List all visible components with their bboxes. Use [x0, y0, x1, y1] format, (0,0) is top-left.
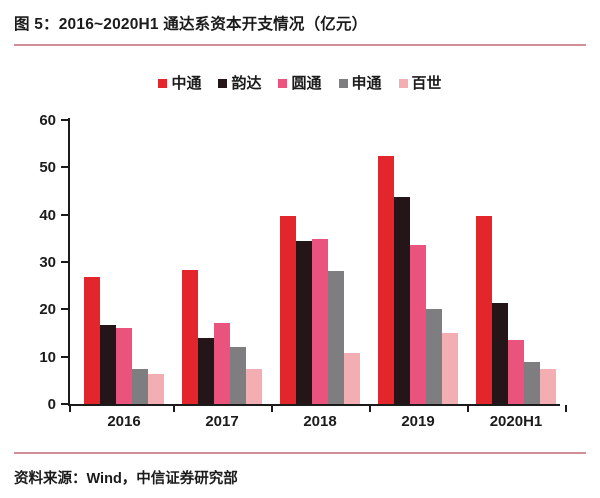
y-axis-label-30: 30 [16, 255, 56, 270]
x-axis-label-2017: 2017 [182, 414, 262, 429]
bar-2020H1-申通[interactable] [524, 362, 540, 404]
bar-chart-plot: 010203040506020162017201820192020H1 [0, 0, 600, 440]
bar-2016-中通[interactable] [84, 277, 100, 404]
y-axis-label-50: 50 [16, 160, 56, 175]
x-axis-tick-2019 [467, 405, 469, 412]
y-axis-tick-50 [61, 166, 69, 168]
bar-2016-韵达[interactable] [100, 325, 116, 404]
bar-2019-百世[interactable] [442, 333, 458, 404]
bar-2019-韵达[interactable] [394, 197, 410, 404]
y-axis-tick-10 [61, 356, 69, 358]
bar-2016-圆通[interactable] [116, 328, 132, 404]
y-axis-label-0: 0 [16, 397, 56, 412]
bar-2017-百世[interactable] [246, 369, 262, 404]
bar-group-2018 [280, 120, 360, 404]
bar-2019-申通[interactable] [426, 309, 442, 404]
y-axis-label-10: 10 [16, 350, 56, 365]
y-axis-tick-0 [61, 403, 69, 405]
y-axis-label-60: 60 [16, 113, 56, 128]
bar-group-2017 [182, 120, 262, 404]
bar-group-2020H1 [476, 120, 556, 404]
x-axis-tick-2017 [271, 405, 273, 412]
y-axis-tick-60 [61, 119, 69, 121]
x-axis-label-2018: 2018 [280, 414, 360, 429]
bar-2019-中通[interactable] [378, 156, 394, 404]
footer-divider [14, 452, 586, 454]
bar-2020H1-中通[interactable] [476, 216, 492, 404]
bar-2018-韵达[interactable] [296, 241, 312, 404]
bar-2018-申通[interactable] [328, 271, 344, 404]
bar-2017-中通[interactable] [182, 270, 198, 404]
x-axis-tick-2018 [369, 405, 371, 412]
bar-2020H1-圆通[interactable] [508, 340, 524, 404]
y-axis-label-40: 40 [16, 208, 56, 223]
bar-2018-中通[interactable] [280, 216, 296, 404]
bar-group-2016 [84, 120, 164, 404]
y-axis-tick-40 [61, 214, 69, 216]
bar-2018-百世[interactable] [344, 353, 360, 404]
bar-2018-圆通[interactable] [312, 239, 328, 404]
bar-2020H1-韵达[interactable] [492, 303, 508, 404]
source-note: 资料来源：Wind，中信证券研究部 [14, 467, 238, 488]
bar-2019-圆通[interactable] [410, 245, 426, 404]
x-axis-label-2020H1: 2020H1 [476, 414, 556, 429]
x-axis-tick-origin [69, 405, 71, 412]
x-axis-line [68, 404, 560, 406]
y-axis-label-20: 20 [16, 302, 56, 317]
bar-2017-韵达[interactable] [198, 338, 214, 404]
bar-2017-申通[interactable] [230, 347, 246, 404]
x-axis-tick-2016 [173, 405, 175, 412]
bar-group-2019 [378, 120, 458, 404]
bar-2020H1-百世[interactable] [540, 369, 556, 405]
y-axis-tick-20 [61, 308, 69, 310]
x-axis-tick-2020H1 [565, 405, 567, 412]
y-axis-tick-30 [61, 261, 69, 263]
x-axis-label-2016: 2016 [84, 414, 164, 429]
bar-2016-申通[interactable] [132, 369, 148, 405]
bar-2017-圆通[interactable] [214, 323, 230, 404]
x-axis-label-2019: 2019 [378, 414, 458, 429]
bar-2016-百世[interactable] [148, 374, 164, 404]
